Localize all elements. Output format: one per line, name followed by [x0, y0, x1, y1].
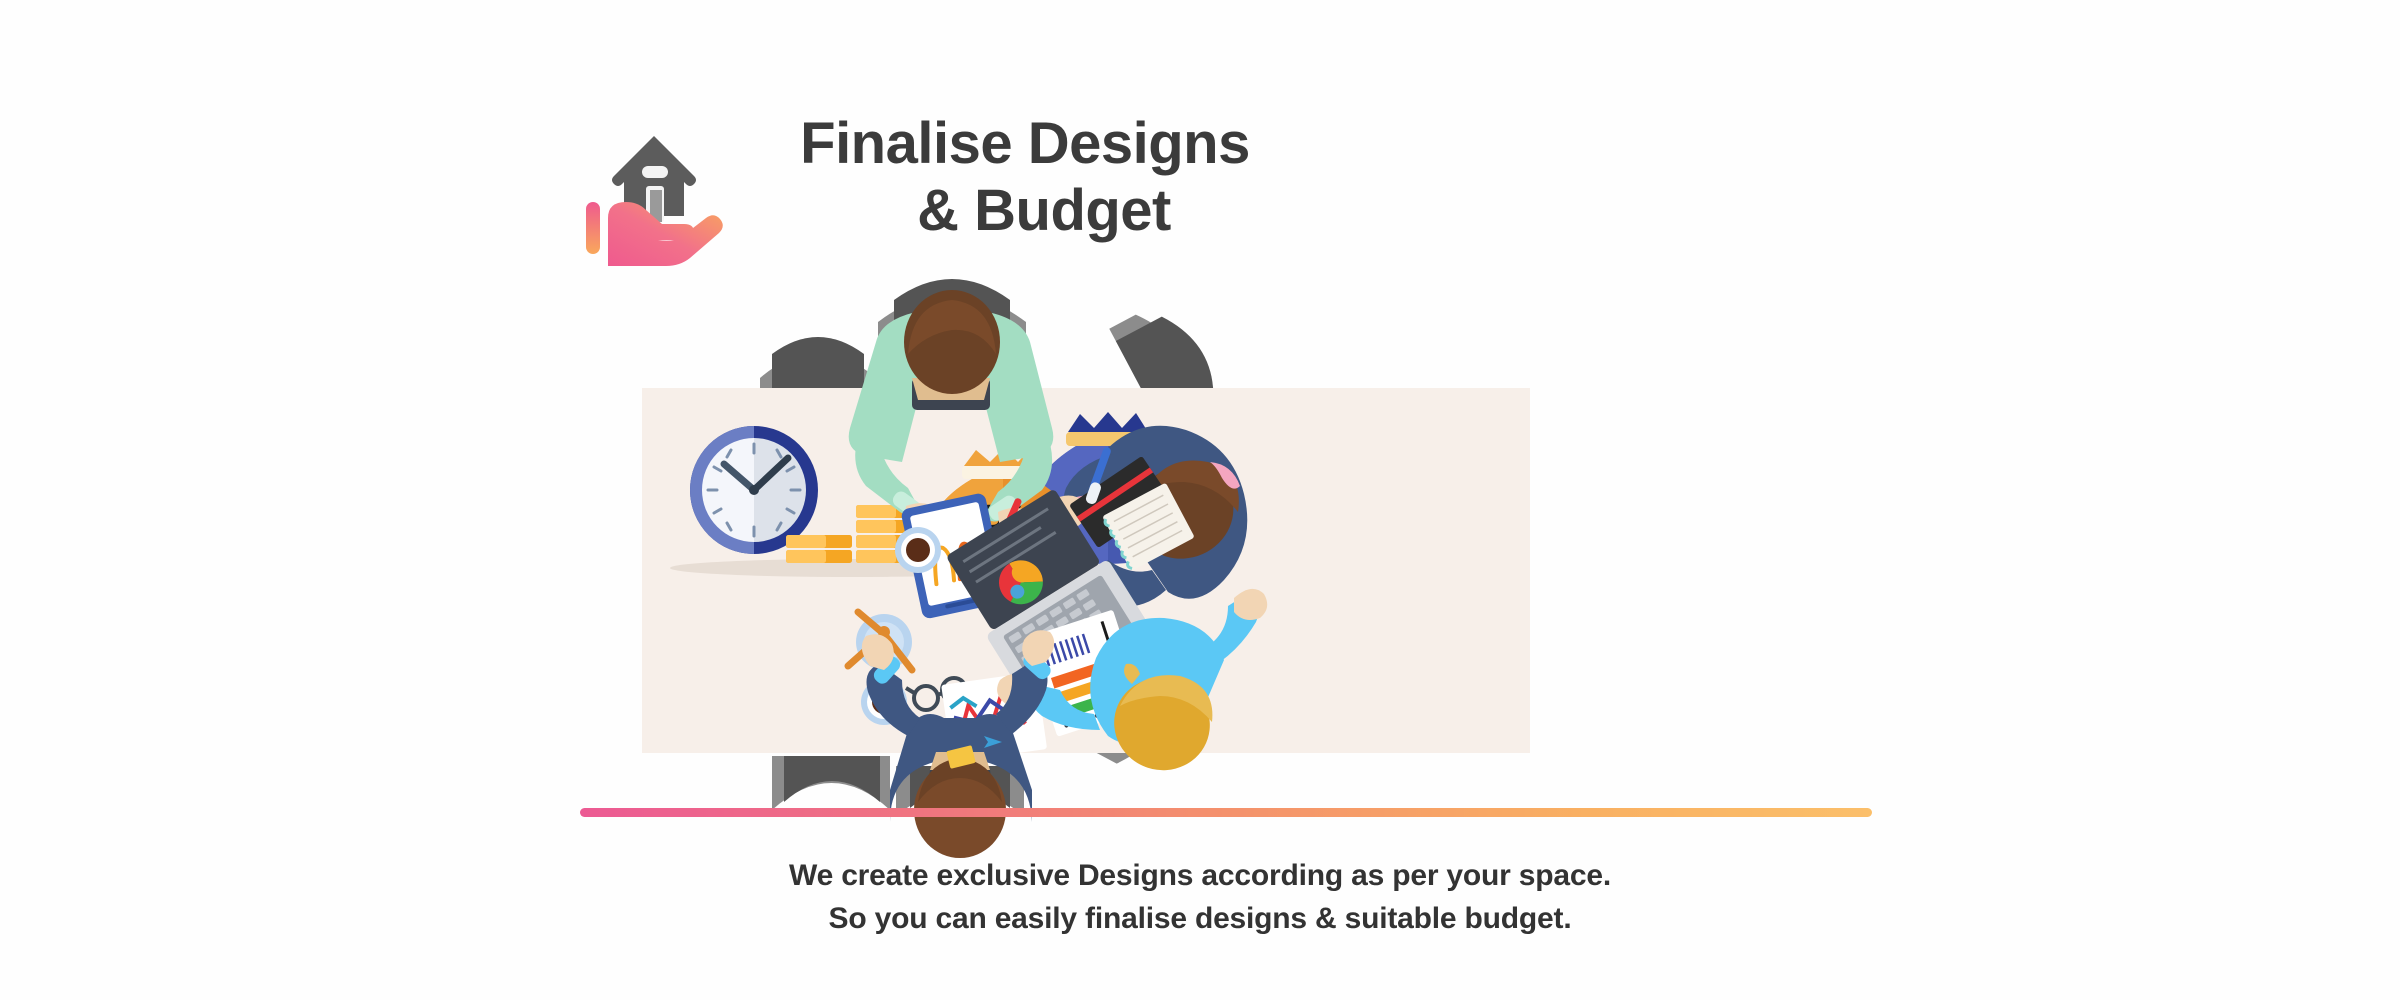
page-canvas: Finalise Designs & Budget	[0, 0, 2400, 1000]
illustration-svg: ₹ ₹	[560, 250, 1900, 830]
wall-clock	[690, 426, 818, 554]
caption-line-2: So you can easily finalise designs & sui…	[0, 898, 2400, 941]
title-line-2: & Budget	[755, 177, 1295, 244]
table-surface-extension	[1398, 388, 1530, 753]
house-in-hand-icon	[580, 120, 730, 260]
caption-line-1: We create exclusive Designs according as…	[0, 855, 2400, 898]
coffee-cup-upper	[895, 527, 941, 573]
caption: We create exclusive Designs according as…	[0, 855, 2400, 941]
team-meeting-budget-illustration: ₹ ₹	[560, 250, 1900, 830]
title-line-1: Finalise Designs	[755, 110, 1295, 177]
page-title: Finalise Designs & Budget	[755, 110, 1295, 245]
gradient-divider	[580, 808, 1872, 817]
chair-empty-bottom	[772, 756, 890, 810]
